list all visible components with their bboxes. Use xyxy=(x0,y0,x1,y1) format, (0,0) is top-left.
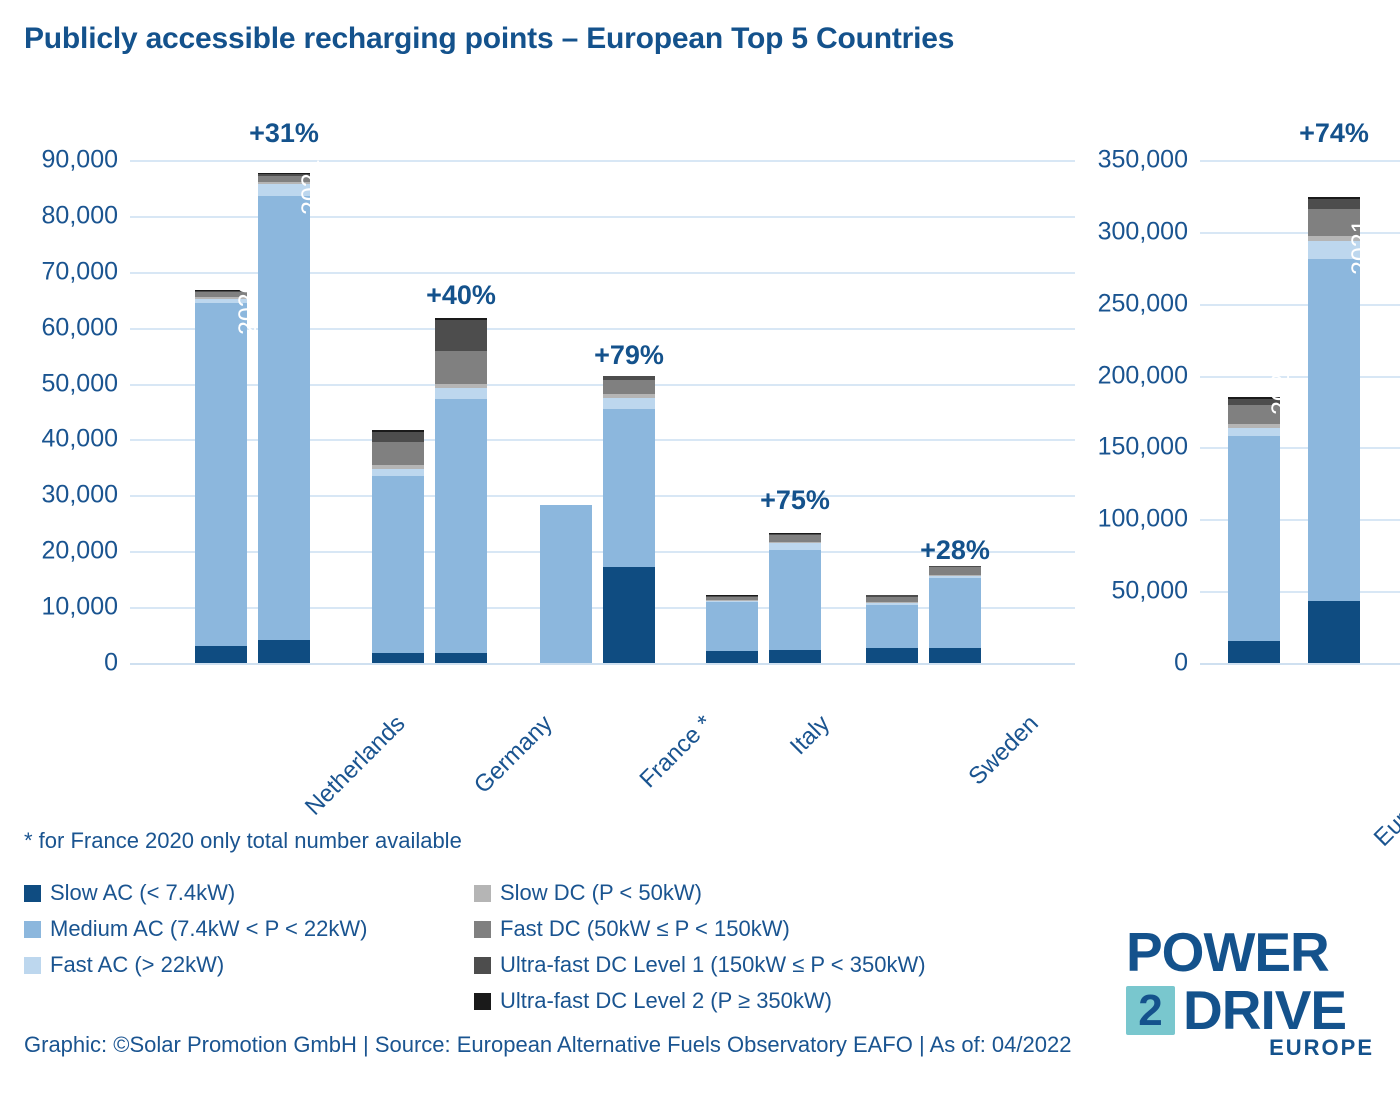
y-axis-tick-label: 90,000 xyxy=(0,146,118,175)
y-axis-tick-label: 300,000 xyxy=(1068,217,1188,246)
bar-segment-slow-ac xyxy=(1228,641,1280,663)
bar-segment-fast-ac xyxy=(1228,428,1280,436)
chart-european-union: 050,000100,000150,000200,000250,000300,0… xyxy=(1060,110,1400,690)
bar-segment-medium-ac xyxy=(929,578,981,648)
legend-swatch-slow-ac xyxy=(24,885,41,902)
bar-segment-slow-ac xyxy=(372,653,424,663)
bar-segment-fast-ac xyxy=(435,388,487,399)
y-axis-tick-label: 80,000 xyxy=(0,201,118,230)
x-axis-category-label: France * xyxy=(635,710,719,794)
legend-label: Ultra-fast DC Level 1 (150kW ≤ P < 350kW… xyxy=(500,954,926,976)
y-axis-tick-label: 250,000 xyxy=(1068,289,1188,318)
bar-segment-medium-ac xyxy=(435,399,487,653)
y-axis-tick-label: 50,000 xyxy=(1068,577,1188,606)
bar-sweden-2020[interactable] xyxy=(866,160,918,663)
bar-segment-ultrafast-dc1 xyxy=(1308,199,1360,209)
growth-label: +40% xyxy=(426,280,496,311)
footnote: * for France 2020 only total number avai… xyxy=(24,828,462,854)
y-axis-tick-label: 0 xyxy=(1068,649,1188,678)
bar-segment-medium-ac xyxy=(258,196,310,639)
bar-netherlands-2021[interactable] xyxy=(258,160,310,663)
legend-swatch-fast-dc xyxy=(474,921,491,938)
bar-segment-slow-ac xyxy=(1308,601,1360,663)
y-axis-tick-label: 60,000 xyxy=(0,313,118,342)
bar-segment-slow-ac xyxy=(866,648,918,663)
y-axis-tick-label: 50,000 xyxy=(0,369,118,398)
bar-segment-slow-ac xyxy=(706,651,758,663)
bar-france-2021[interactable] xyxy=(603,160,655,663)
bar-segment-slow-ac xyxy=(258,640,310,663)
growth-label: +79% xyxy=(594,340,664,371)
bar-segment-medium-ac xyxy=(1308,259,1360,601)
y-axis-tick-label: 70,000 xyxy=(0,257,118,286)
bar-italy-2021[interactable] xyxy=(769,160,821,663)
bar-segment-ultrafast-dc1 xyxy=(372,432,424,443)
legend-swatch-ultrafast-dc1 xyxy=(474,957,491,974)
bar-segment-medium-ac xyxy=(540,505,592,663)
logo-two-badge: 2 xyxy=(1126,986,1175,1035)
legend-swatch-medium-ac xyxy=(24,921,41,938)
bar-segment-fast-dc xyxy=(929,567,981,575)
y-axis-tick-label: 30,000 xyxy=(0,481,118,510)
legend-swatch-ultrafast-dc2 xyxy=(474,993,491,1010)
bar-segment-medium-ac xyxy=(866,605,918,649)
legend-label: Fast AC (> 22kW) xyxy=(50,954,224,976)
bar-segment-slow-ac xyxy=(603,567,655,663)
bar-segment-medium-ac xyxy=(706,602,758,651)
plot-area-right: 050,000100,000150,000200,000250,000300,0… xyxy=(1060,110,1400,690)
bar-segment-fast-dc xyxy=(258,176,310,183)
legend-item[interactable]: Ultra-fast DC Level 1 (150kW ≤ P < 350kW… xyxy=(474,950,926,980)
credit-line: Graphic: ©Solar Promotion GmbH | Source:… xyxy=(24,1032,1071,1058)
x-axis-category-label: Sweden xyxy=(963,710,1044,791)
legend-label: Medium AC (7.4kW < P < 22kW) xyxy=(50,918,367,940)
legend-label: Ultra-fast DC Level 2 (P ≥ 350kW) xyxy=(500,990,832,1012)
y-axis-tick-label: 40,000 xyxy=(0,425,118,454)
x-axis-baseline xyxy=(1200,663,1400,665)
logo-row-drive: 2 DRIVE xyxy=(1126,983,1346,1038)
growth-label: +31% xyxy=(249,118,319,149)
bar-segment-fast-dc xyxy=(1228,405,1280,424)
bar-segment-fast-dc xyxy=(435,351,487,383)
legend-swatch-slow-dc xyxy=(474,885,491,902)
x-axis-baseline xyxy=(130,663,1075,665)
y-axis-tick-label: 150,000 xyxy=(1068,433,1188,462)
y-axis-tick-label: 10,000 xyxy=(0,593,118,622)
legend-swatch-fast-ac xyxy=(24,957,41,974)
bar-segment-medium-ac xyxy=(195,303,247,647)
bar-segment-fast-ac xyxy=(603,398,655,409)
logo-power-text: POWER xyxy=(1126,925,1329,980)
legend-item[interactable]: Medium AC (7.4kW < P < 22kW) xyxy=(24,914,367,944)
bar-segment-slow-ac xyxy=(929,648,981,663)
bar-germany-2021[interactable] xyxy=(435,160,487,663)
bar-segment-fast-ac xyxy=(372,469,424,476)
bar-segment-fast-dc xyxy=(603,380,655,395)
bar-germany-2020[interactable] xyxy=(372,160,424,663)
legend-label: Slow DC (P < 50kW) xyxy=(500,882,702,904)
legend-item[interactable]: Slow DC (P < 50kW) xyxy=(474,878,926,908)
y-axis-tick-label: 200,000 xyxy=(1068,361,1188,390)
x-axis-category-label: Netherlands xyxy=(300,710,411,821)
bar-france-2020[interactable] xyxy=(540,160,592,663)
bar-sweden-2021[interactable] xyxy=(929,160,981,663)
y-axis-tick-label: 350,000 xyxy=(1068,146,1188,175)
legend-label: Slow AC (< 7.4kW) xyxy=(50,882,235,904)
bar-segment-medium-ac xyxy=(372,476,424,653)
growth-label: +75% xyxy=(760,485,830,516)
legend-item[interactable]: Slow AC (< 7.4kW) xyxy=(24,878,367,908)
page-title: Publicly accessible recharging points – … xyxy=(24,22,954,56)
legend-column-ac: Slow AC (< 7.4kW)Medium AC (7.4kW < P < … xyxy=(24,878,367,986)
bar-europeanunion-2020[interactable] xyxy=(1228,160,1280,663)
bar-segment-medium-ac xyxy=(603,409,655,567)
logo-drive-text: DRIVE xyxy=(1183,983,1346,1038)
bar-segment-fast-dc xyxy=(1308,209,1360,236)
plot-area-left: 010,00020,00030,00040,00050,00060,00070,… xyxy=(0,110,1010,690)
growth-label: +28% xyxy=(920,535,990,566)
bar-segment-ultrafast-dc1 xyxy=(435,320,487,351)
bar-segment-slow-ac xyxy=(195,646,247,663)
x-axis-category-label: Germany xyxy=(469,710,559,800)
bar-segment-slow-ac xyxy=(435,653,487,663)
logo-europe-text: EUROPE xyxy=(1269,1035,1374,1061)
bar-italy-2020[interactable] xyxy=(706,160,758,663)
bar-segment-slow-ac xyxy=(769,650,821,663)
power2drive-logo: POWER 2 DRIVE EUROPE xyxy=(1126,925,1376,1055)
legend-column-dc: Slow DC (P < 50kW)Fast DC (50kW ≤ P < 15… xyxy=(474,878,926,1022)
legend-item[interactable]: Fast DC (50kW ≤ P < 150kW) xyxy=(474,914,926,944)
bar-segment-medium-ac xyxy=(1228,436,1280,642)
bar-netherlands-2020[interactable] xyxy=(195,160,247,663)
legend-label: Fast DC (50kW ≤ P < 150kW) xyxy=(500,918,790,940)
legend-item[interactable]: Ultra-fast DC Level 2 (P ≥ 350kW) xyxy=(474,986,926,1016)
bar-segment-medium-ac xyxy=(769,550,821,650)
bar-segment-fast-ac xyxy=(769,543,821,550)
growth-label: +74% xyxy=(1299,118,1369,149)
bar-segment-fast-dc xyxy=(769,535,821,542)
bar-europeanunion-2021[interactable] xyxy=(1308,160,1360,663)
chart-top5-countries: 010,00020,00030,00040,00050,00060,00070,… xyxy=(0,110,1010,690)
x-axis-category-label: European Union xyxy=(1369,710,1400,852)
legend-item[interactable]: Fast AC (> 22kW) xyxy=(24,950,367,980)
y-axis-tick-label: 0 xyxy=(0,649,118,678)
bar-segment-fast-ac xyxy=(258,184,310,196)
bar-segment-fast-dc xyxy=(372,442,424,465)
y-axis-tick-label: 100,000 xyxy=(1068,505,1188,534)
bar-segment-fast-ac xyxy=(1308,241,1360,260)
y-axis-tick-label: 20,000 xyxy=(0,537,118,566)
x-axis-category-label: Italy xyxy=(785,710,836,761)
